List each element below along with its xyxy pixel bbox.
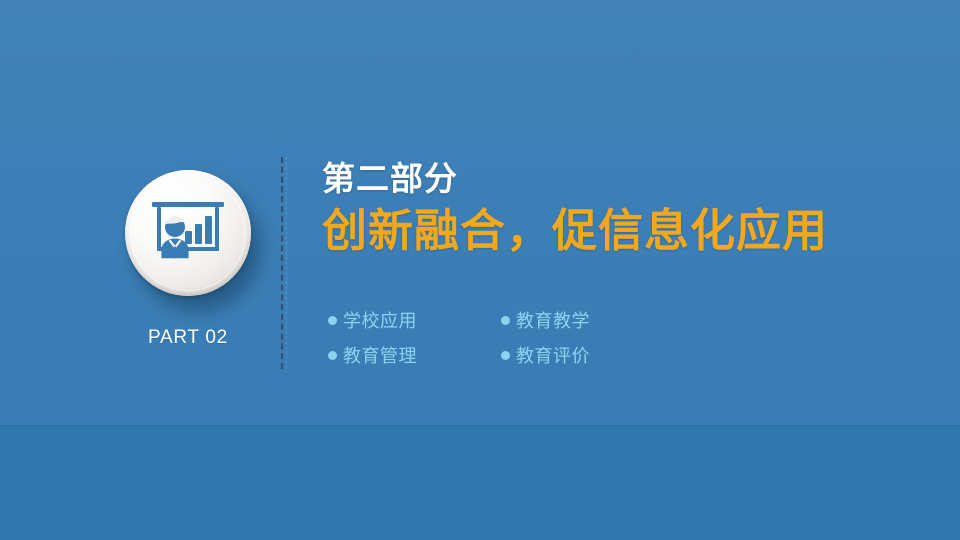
list-item-label: 教育评价 xyxy=(516,347,590,365)
list-item[interactable]: 教育教学 xyxy=(501,312,674,330)
list-item-label: 学校应用 xyxy=(343,312,417,330)
bullet-dot-icon xyxy=(501,351,510,360)
topic-list: 学校应用 教育教学 教育管理 教育评价 xyxy=(328,303,688,373)
bullet-dot-icon xyxy=(328,316,337,325)
bottom-color-band xyxy=(0,425,960,540)
list-item[interactable]: 学校应用 xyxy=(328,312,501,330)
part-number-label: PART 02 xyxy=(108,328,268,347)
bottom-band-divider xyxy=(0,425,960,426)
bullet-dot-icon xyxy=(501,316,510,325)
section-badge: PART 02 xyxy=(108,160,268,370)
bullet-dot-icon xyxy=(328,351,337,360)
list-item-label: 教育教学 xyxy=(516,312,590,330)
section-heading-block: 第二部分 创新融合，促信息化应用 xyxy=(322,160,922,257)
section-kicker: 第二部分 xyxy=(322,160,922,198)
list-item[interactable]: 教育管理 xyxy=(328,347,501,365)
dashed-divider-highlight xyxy=(286,157,287,369)
presentation-chart-person-icon xyxy=(149,198,227,268)
badge-circle xyxy=(125,170,251,296)
section-title: 创新融合，促信息化应用 xyxy=(322,205,922,256)
list-item[interactable]: 教育评价 xyxy=(501,347,674,365)
presentation-slide: PART 02 第二部分 创新融合，促信息化应用 学校应用 教育教学 教育管理 … xyxy=(0,0,960,540)
list-item-label: 教育管理 xyxy=(343,347,417,365)
dashed-divider xyxy=(281,157,283,369)
